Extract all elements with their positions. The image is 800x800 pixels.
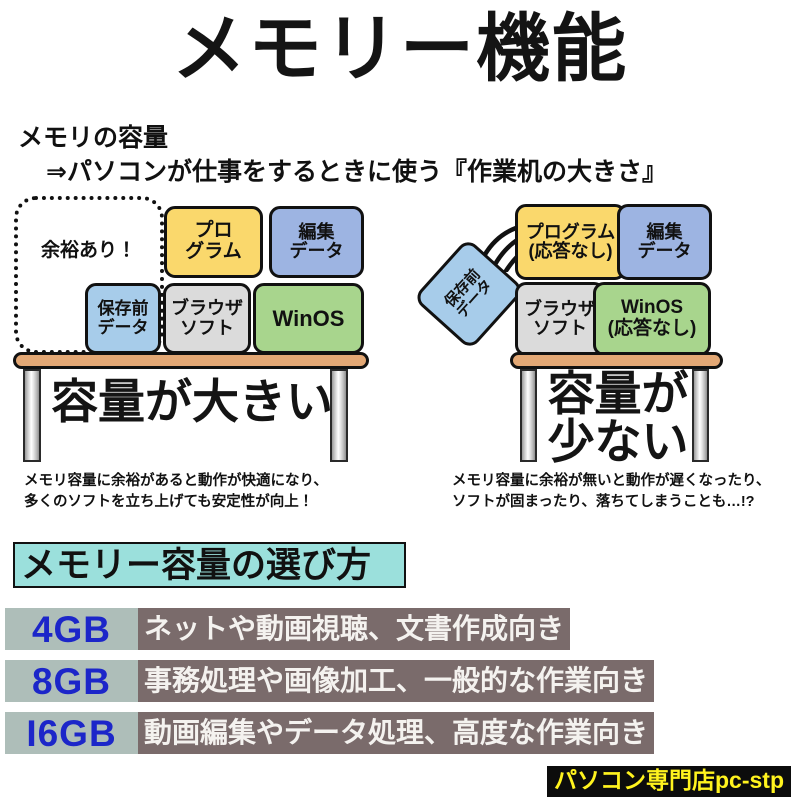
desk-caption-large: 容量が大きい: [42, 378, 342, 425]
block-edit-data-small: 編集 データ: [617, 204, 712, 280]
gb-chip-16gb: I6GB: [5, 712, 138, 754]
gb-description-16gb: 動画編集やデータ処理、高度な作業向き: [138, 712, 654, 754]
sub-caption-small-line-2: ソフトが固まったり、落ちてしまうことも…!?: [452, 492, 770, 513]
sub-caption-large: メモリ容量に余裕があると動作が快適になり、 多くのソフトを立ち上げても安定性が向…: [24, 471, 328, 513]
sub-caption-large-line-2: 多くのソフトを立ち上げても安定性が向上！: [24, 492, 328, 513]
desk-top-small: [510, 352, 723, 369]
block-edit-data-line-2: データ: [290, 242, 344, 261]
gb-row-4gb: 4GB ネットや動画視聴、文書作成向き: [5, 608, 570, 650]
block-browser-software-small-line-2: ソフト: [533, 319, 587, 338]
lead-line-2: ⇒パソコンが仕事をするときに使う『作業机の大きさ』: [46, 152, 667, 188]
section-heading-text: メモリー容量の選び方: [21, 548, 371, 583]
desk-caption-small: 容量が 少ない: [528, 370, 708, 466]
block-winos: WinOS: [253, 283, 364, 354]
block-program-not-responding-line-2: (応答なし): [529, 242, 613, 261]
gb-description-8gb: 事務処理や画像加工、一般的な作業向き: [138, 660, 654, 702]
section-heading-band: メモリー容量の選び方: [13, 542, 406, 588]
block-unsaved-data: 保存前 データ: [85, 283, 161, 354]
desk-caption-small-line-1: 容量が: [528, 370, 708, 418]
desk-top-large: [13, 352, 369, 369]
desk-leg-left-large: [23, 369, 41, 462]
infographic-page: メモリー機能 メモリの容量 ⇒パソコンが仕事をするときに使う『作業机の大きさ』 …: [0, 0, 800, 800]
block-browser-software-line-1: ブラウザ: [171, 299, 243, 318]
gb-description-4gb: ネットや動画視聴、文書作成向き: [138, 608, 570, 650]
sub-caption-small-line-1: メモリ容量に余裕が無いと動作が遅くなったり、: [452, 471, 770, 492]
block-winos-line-1: WinOS: [273, 307, 345, 331]
slack-region-label: 余裕あり！: [41, 235, 136, 262]
gb-chip-4gb: 4GB: [5, 608, 138, 650]
sub-caption-large-line-1: メモリ容量に余裕があると動作が快適になり、: [24, 471, 328, 492]
block-winos-not-responding: WinOS (応答なし): [593, 282, 711, 356]
block-winos-not-responding-line-1: WinOS: [621, 298, 683, 319]
block-program-line-1: プロ: [194, 221, 232, 242]
block-edit-data-small-line-2: データ: [638, 242, 692, 261]
gb-row-8gb: 8GB 事務処理や画像加工、一般的な作業向き: [5, 660, 654, 702]
lead-line-1: メモリの容量: [18, 118, 168, 154]
gb-chip-8gb: 8GB: [5, 660, 138, 702]
block-program-not-responding: プログラム (応答なし): [515, 204, 626, 280]
block-edit-data-line-1: 編集: [299, 223, 335, 242]
block-program-not-responding-line-1: プログラム: [526, 223, 615, 242]
block-program: プロ グラム: [164, 206, 263, 278]
block-browser-software: ブラウザ ソフト: [163, 283, 251, 354]
desk-caption-small-line-2: 少ない: [528, 418, 708, 466]
page-title: メモリー機能: [0, 12, 800, 86]
block-edit-data-small-line-1: 編集: [647, 223, 683, 242]
desk-caption-large-line-1: 容量が大きい: [51, 375, 333, 428]
footer-shop-badge: パソコン専門店pc-stp: [547, 766, 791, 797]
block-edit-data: 編集 データ: [269, 206, 364, 278]
sub-caption-small: メモリ容量に余裕が無いと動作が遅くなったり、 ソフトが固まったり、落ちてしまうこ…: [452, 471, 770, 513]
block-winos-not-responding-line-2: (応答なし): [608, 319, 697, 340]
block-program-line-2: グラム: [185, 242, 241, 263]
gb-row-16gb: I6GB 動画編集やデータ処理、高度な作業向き: [5, 712, 654, 754]
block-browser-software-line-2: ソフト: [180, 319, 234, 338]
block-browser-software-small: ブラウザ ソフト: [515, 282, 605, 356]
block-unsaved-data-line-1: 保存前: [98, 300, 149, 318]
block-unsaved-data-line-2: データ: [98, 319, 149, 337]
block-browser-software-small-line-1: ブラウザ: [524, 300, 596, 319]
